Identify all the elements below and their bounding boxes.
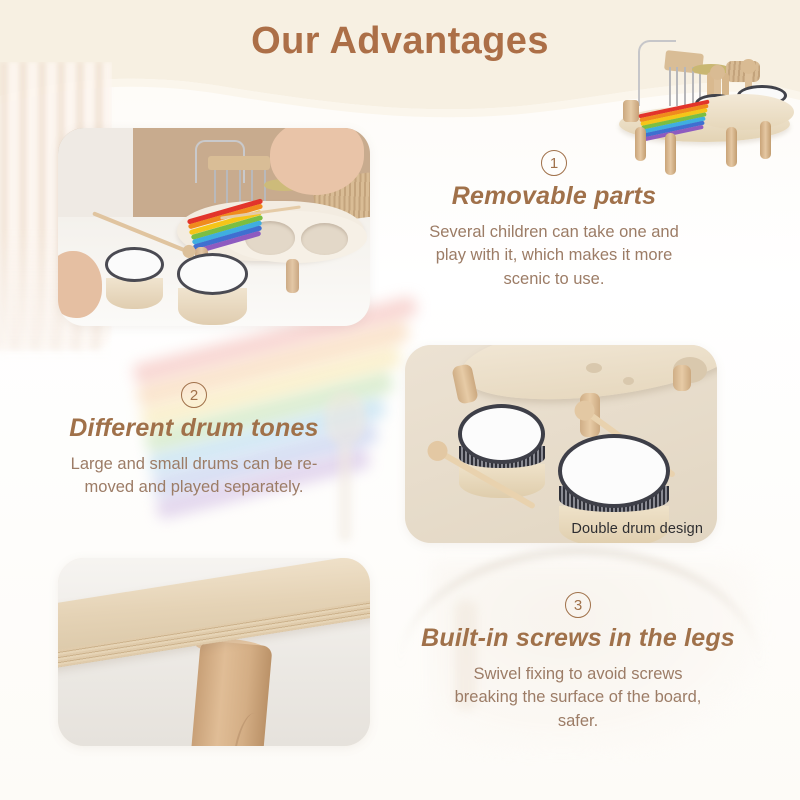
advantage-body-3: Swivel fixing to avoid screws breaking t… — [378, 663, 778, 733]
board-hole — [623, 377, 634, 385]
chime-rod — [684, 67, 686, 106]
chime-rod — [676, 67, 678, 106]
advantage-headline-3: Built-in screws in the legs — [378, 624, 778, 653]
drum-large — [177, 253, 249, 316]
hands-removing-drums-photo — [58, 128, 370, 326]
chime-bar — [208, 156, 270, 170]
advantage-block-1: 1 Removable parts Several children can t… — [376, 150, 732, 291]
advantage-headline-1: Removable parts — [376, 182, 732, 211]
advantage-body-2: Large and small drums can be re- moved a… — [16, 453, 372, 500]
advantage-block-3: 3 Built-in screws in the legs Swivel fix… — [378, 592, 778, 733]
chime-rod — [692, 67, 694, 106]
leg-screw-closeup-photo — [58, 558, 370, 746]
advantage-body-1: Several children can take one and play w… — [376, 221, 732, 291]
board-hole — [586, 363, 602, 373]
advantage-headline-2: Different drum tones — [16, 414, 372, 443]
drum-small — [105, 247, 164, 300]
table-leg — [190, 640, 273, 746]
table-leg — [673, 365, 691, 391]
drum-hole — [301, 223, 348, 255]
step-number-2: 2 — [181, 382, 207, 408]
hero-xylophone — [638, 106, 714, 133]
drum-small — [458, 404, 545, 487]
advantage-block-2: 2 Different drum tones Large and small d… — [16, 382, 372, 500]
table-leg — [286, 259, 299, 293]
photo-caption: Double drum design — [571, 521, 703, 537]
hero-drum-cup — [623, 100, 639, 122]
chime-rod — [669, 67, 671, 106]
step-number-3: 3 — [565, 592, 591, 618]
hero-table-leg — [760, 121, 771, 159]
step-number-1: 1 — [541, 150, 567, 176]
double-drum-photo: Double drum design — [405, 345, 717, 543]
advantages-infographic: Our Advantages — [0, 0, 800, 800]
